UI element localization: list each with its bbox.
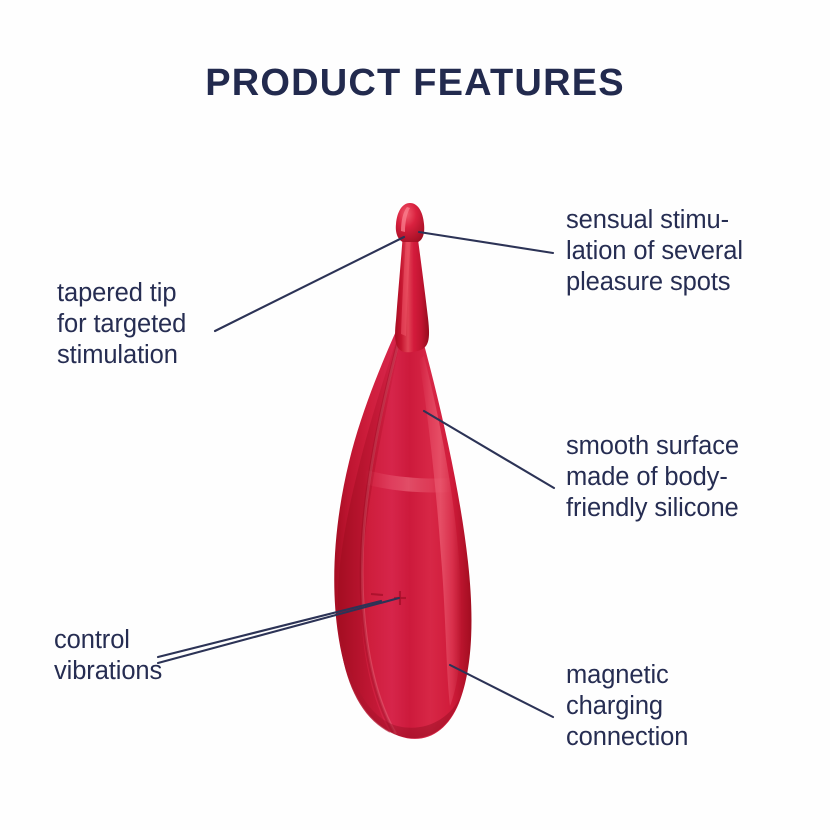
callout-label-sensual-stimulation: sensual stimu- lation of several pleasur… xyxy=(566,205,743,298)
callout-label-control-vibrations: control vibrations xyxy=(54,625,162,687)
callout-label-tapered-tip: tapered tip for targeted stimulation xyxy=(57,278,186,371)
callout-line: vibrations xyxy=(54,656,162,687)
callout-line: stimulation xyxy=(57,340,186,371)
product-illustration xyxy=(0,0,830,830)
callout-line: lation of several xyxy=(566,236,743,267)
callout-line: connection xyxy=(566,722,688,753)
callout-line: control xyxy=(54,625,162,656)
product-silhouette xyxy=(334,203,471,739)
infographic-canvas: PRODUCT FEATURES xyxy=(0,0,830,830)
product-stem xyxy=(395,232,429,352)
callout-label-smooth-surface: smooth surface made of body- friendly si… xyxy=(566,431,739,524)
leader-line-sensual xyxy=(419,232,553,253)
callout-line: friendly silicone xyxy=(566,493,739,524)
callout-line: tapered tip xyxy=(57,278,186,309)
callout-line: sensual stimu- xyxy=(566,205,743,236)
callout-line: magnetic xyxy=(566,660,688,691)
callout-line: made of body- xyxy=(566,462,739,493)
callout-label-magnetic-charging: magnetic charging connection xyxy=(566,660,688,753)
callout-line: charging xyxy=(566,691,688,722)
minus-button-icon[interactable] xyxy=(371,594,383,595)
leader-line-tapered-tip xyxy=(215,237,404,331)
callout-line: pleasure spots xyxy=(566,267,743,298)
callout-line: smooth surface xyxy=(566,431,739,462)
leader-line-magnetic-charging xyxy=(450,665,553,717)
callout-line: for targeted xyxy=(57,309,186,340)
product-tip xyxy=(396,203,424,242)
